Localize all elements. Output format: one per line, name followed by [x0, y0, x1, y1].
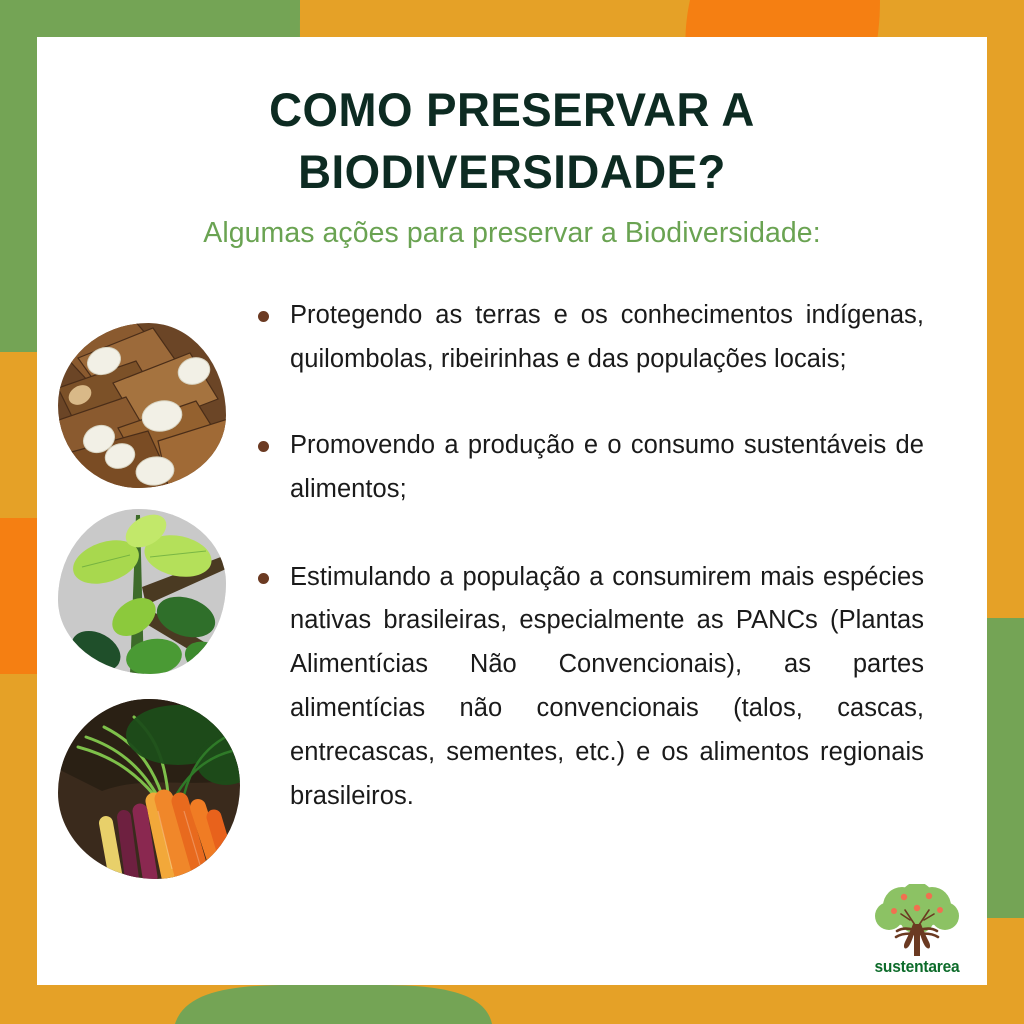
content-area: Protegendo as terras e os conhecimentos …	[37, 294, 987, 954]
bullet-list: Protegendo as terras e os conhecimentos …	[252, 294, 924, 819]
bullet-dot-icon	[258, 573, 269, 584]
colorful-carrots-photo	[58, 699, 240, 879]
poster-card: COMO PRESERVAR A BIODIVERSIDADE? Algumas…	[37, 37, 987, 985]
sustentarea-logo: sustentarea	[865, 884, 969, 977]
page-subtitle: Algumas ações para preservar a Biodivers…	[47, 217, 978, 250]
logo-wordmark: sustentarea	[868, 958, 966, 977]
list-item: Promovendo a produção e o consumo susten…	[252, 424, 924, 512]
page-title-line-1: COMO PRESERVAR A	[51, 79, 973, 141]
cassava-roots-photo	[58, 323, 226, 488]
frame-green-bottom	[175, 985, 492, 1024]
list-item: Estimulando a população a consumirem mai…	[252, 556, 924, 819]
list-item-text: Promovendo a produção e o consumo susten…	[290, 431, 924, 503]
list-item-text: Protegendo as terras e os conhecimentos …	[290, 301, 924, 373]
title-block: COMO PRESERVAR A BIODIVERSIDADE?	[37, 37, 987, 203]
bullet-dot-icon	[258, 441, 269, 452]
green-plant-photo	[58, 509, 226, 674]
list-item-text: Estimulando a população a consumirem mai…	[290, 563, 924, 810]
bullet-dot-icon	[258, 311, 269, 322]
tree-icon	[874, 884, 960, 956]
page-title-line-2: BIODIVERSIDADE?	[51, 141, 973, 203]
list-item: Protegendo as terras e os conhecimentos …	[252, 294, 924, 382]
